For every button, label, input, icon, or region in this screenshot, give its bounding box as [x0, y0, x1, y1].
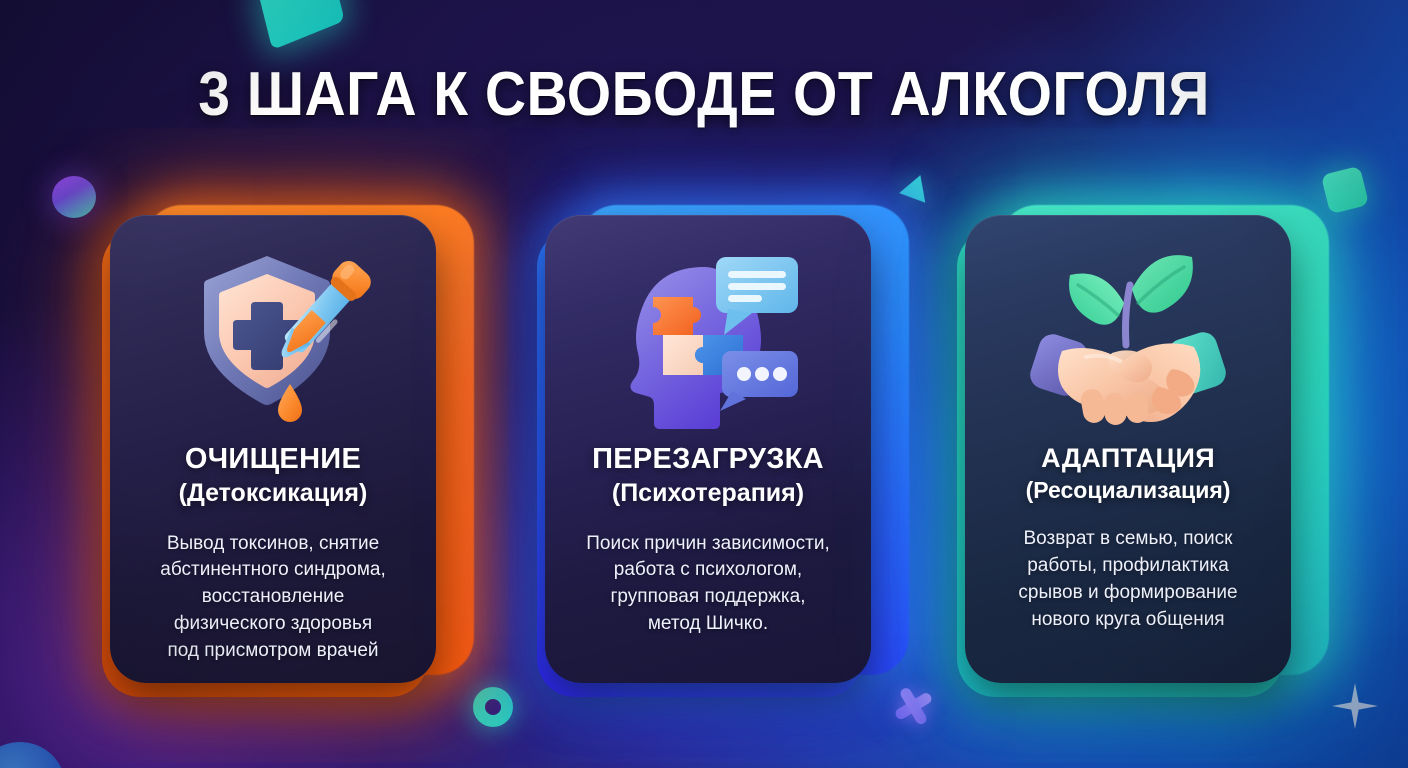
infographic-canvas: 3 ШАГА К СВОБОДЕ ОТ АЛКОГОЛЯ — [0, 0, 1408, 768]
card-2-heading: ПЕРЕЗАГРУЗКА — [592, 445, 824, 474]
blue-dot-decoration — [0, 742, 66, 768]
teal-square-decoration — [1321, 166, 1369, 214]
gradient-circle-decoration — [52, 176, 96, 218]
card-3-heading: АДАПТАЦИЯ — [1041, 445, 1215, 472]
teal-shard-decoration — [257, 0, 344, 50]
card-3-body: Возврат в семью, поиск работы, профилакт… — [1018, 526, 1237, 634]
silver-sparkle-decoration — [1332, 683, 1378, 729]
card-1-heading: ОЧИЩЕНИЕ — [185, 445, 361, 474]
page-title: 3 ШАГА К СВОБОДЕ ОТ АЛКОГОЛЯ — [56, 62, 1351, 127]
purple-cross-decoration — [889, 682, 937, 730]
card-1-body: Вывод токсинов, снятие абстинентного син… — [160, 531, 385, 666]
card-1-subheading: (Детоксикация) — [179, 479, 368, 509]
card-2-body: Поиск причин зависимости, работа с психо… — [586, 531, 830, 639]
step-card-2[interactable]: ПЕРЕЗАГРУЗКА (Психотерапия) Поиск причин… — [541, 207, 887, 695]
step-card-3[interactable]: АДАПТАЦИЯ (Ресоциализация) Возврат в сем… — [961, 207, 1307, 695]
card-3-subheading: (Ресоциализация) — [1026, 477, 1231, 504]
step-card-1[interactable]: ОЧИЩЕНИЕ (Детоксикация) Вывод токсинов, … — [106, 207, 452, 695]
card-2-subheading: (Психотерапия) — [612, 479, 804, 509]
head-puzzle-speech-bubbles-icon — [561, 233, 855, 445]
shield-cross-dropper-icon — [126, 233, 420, 445]
teal-ring-decoration — [473, 687, 513, 727]
cyan-triangle-decoration — [897, 175, 925, 207]
handshake-sprout-icon — [981, 233, 1275, 445]
